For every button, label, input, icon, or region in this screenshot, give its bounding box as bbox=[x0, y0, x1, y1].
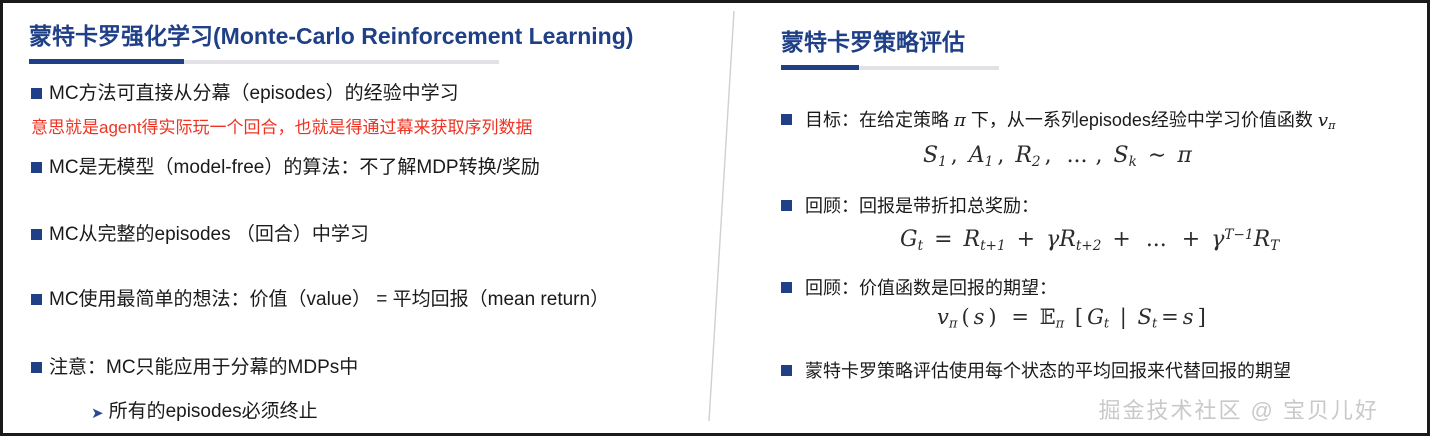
right-bullet-2-label: 回顾：回报是带折扣总奖励： bbox=[805, 193, 1039, 219]
right-bullet-1-prefix: 目标：在给定策略 bbox=[805, 110, 954, 130]
square-bullet-icon bbox=[31, 294, 42, 305]
left-panel-title: 蒙特卡罗强化学习(Monte-Carlo Reinforcement Learn… bbox=[29, 17, 689, 51]
square-bullet-icon bbox=[31, 362, 42, 373]
right-bullet-2: 回顾：回报是带折扣总奖励： bbox=[781, 193, 1039, 219]
watermark-text: 掘金技术社区 @ 宝贝儿好 bbox=[1098, 393, 1379, 425]
right-bullet-1-label: 目标：在给定策略 π 下，从一系列episodes经验中学习价值函数 vπ bbox=[805, 107, 1335, 139]
left-panel: 蒙特卡罗强化学习(Monte-Carlo Reinforcement Learn… bbox=[3, 3, 715, 436]
right-bullet-1: 目标：在给定策略 π 下，从一系列episodes经验中学习价值函数 vπ bbox=[781, 107, 1335, 139]
right-panel-title: 蒙特卡罗策略评估 bbox=[781, 23, 1201, 57]
square-bullet-icon bbox=[781, 114, 792, 125]
right-panel: 蒙特卡罗策略评估 目标：在给定策略 π 下，从一系列episodes经验中学习价… bbox=[715, 3, 1430, 436]
left-bullet-4-label: MC使用最简单的想法：价值（value） = 平均回报（mean return） bbox=[49, 287, 609, 313]
policy-symbol-pi: π bbox=[954, 110, 966, 131]
right-bullet-1-mid: 下，从一系列episodes经验中学习价值函数 bbox=[966, 110, 1318, 130]
left-bullet-5-label: 注意：MC只能应用于分幕的MDPs中 bbox=[49, 355, 358, 381]
square-bullet-icon bbox=[31, 229, 42, 240]
right-title-underline bbox=[781, 66, 999, 70]
square-bullet-icon bbox=[781, 365, 792, 376]
left-red-note: 意思就是agent得实际玩一个回合，也就是得通过幕来获取序列数据 bbox=[31, 113, 533, 138]
right-bullet-4-label: 蒙特卡罗策略评估使用每个状态的平均回报来代替回报的期望 bbox=[805, 358, 1291, 384]
left-bullet-3-label: MC从完整的episodes （回合）中学习 bbox=[49, 222, 369, 248]
square-bullet-icon bbox=[31, 88, 42, 99]
value-symbol-subscript: π bbox=[1328, 119, 1335, 132]
square-bullet-icon bbox=[781, 282, 792, 293]
right-bullet-4: 蒙特卡罗策略评估使用每个状态的平均回报来代替回报的期望 bbox=[781, 358, 1291, 384]
left-title-block: 蒙特卡罗强化学习(Monte-Carlo Reinforcement Learn… bbox=[29, 17, 689, 64]
right-bullet-3-label: 回顾：价值函数是回报的期望： bbox=[805, 275, 1057, 301]
left-bullet-1: MC方法可直接从分幕（episodes）的经验中学习 bbox=[31, 81, 459, 107]
value-symbol-v: v bbox=[1318, 110, 1328, 131]
left-sub-bullet: ➤ 所有的episodes必须终止 bbox=[91, 399, 318, 426]
right-title-block: 蒙特卡罗策略评估 bbox=[781, 23, 1201, 70]
slide-canvas: 蒙特卡罗强化学习(Monte-Carlo Reinforcement Learn… bbox=[0, 0, 1430, 436]
arrow-bullet-icon: ➤ bbox=[91, 402, 104, 426]
square-bullet-icon bbox=[781, 200, 792, 211]
left-bullet-3: MC从完整的episodes （回合）中学习 bbox=[31, 222, 369, 248]
return-definition-formula: Gt = Rt+1 + γRt+2 + ... + γT−1RT bbox=[900, 227, 1279, 254]
left-bullet-2: MC是无模型（model-free）的算法：不了解MDP转换/奖励 bbox=[31, 155, 540, 181]
episode-sequence-formula: S1, A1, R2, ..., Sk ∼ π bbox=[923, 143, 1192, 170]
right-bullet-3: 回顾：价值函数是回报的期望： bbox=[781, 275, 1057, 301]
left-bullet-1-label: MC方法可直接从分幕（episodes）的经验中学习 bbox=[49, 81, 459, 107]
value-function-symbol: vπ bbox=[1318, 110, 1336, 131]
square-bullet-icon bbox=[31, 162, 42, 173]
left-bullet-5: 注意：MC只能应用于分幕的MDPs中 bbox=[31, 355, 358, 381]
left-title-underline bbox=[29, 60, 499, 64]
value-function-definition-formula: vπ(s) = 𝔼π [Gt | St=s] bbox=[937, 305, 1210, 332]
left-sub-bullet-label: 所有的episodes必须终止 bbox=[109, 399, 318, 425]
left-bullet-2-label: MC是无模型（model-free）的算法：不了解MDP转换/奖励 bbox=[49, 155, 540, 181]
left-bullet-4: MC使用最简单的想法：价值（value） = 平均回报（mean return） bbox=[31, 287, 609, 313]
